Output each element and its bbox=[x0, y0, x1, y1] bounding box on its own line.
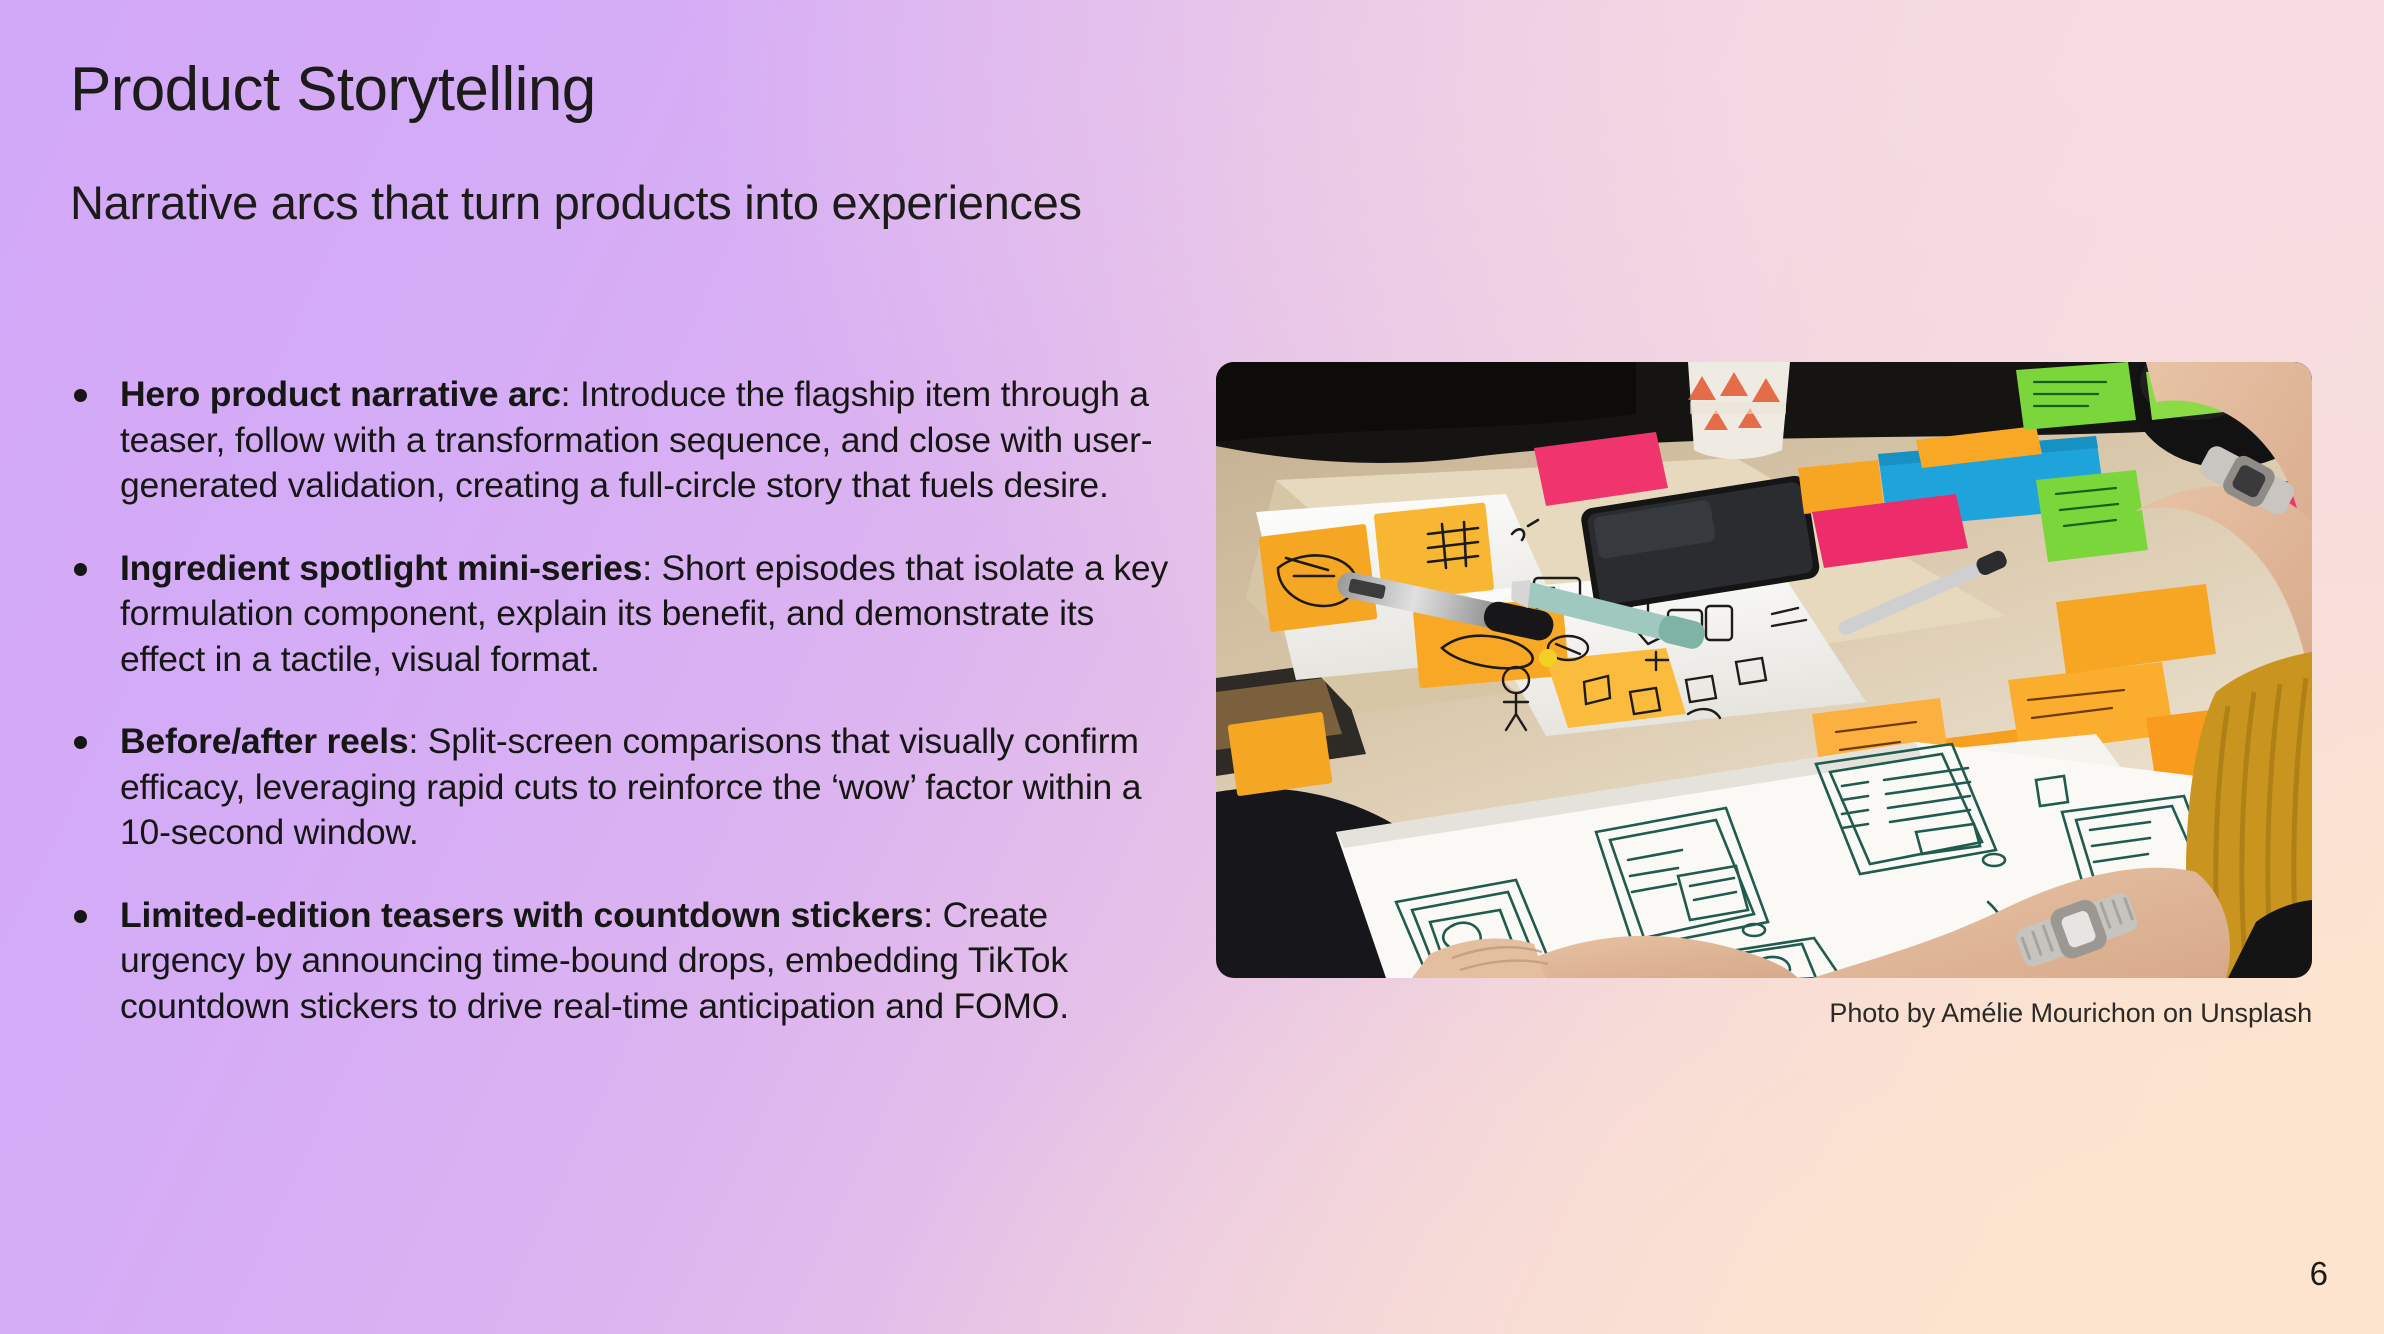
page-number: 6 bbox=[2310, 1257, 2328, 1290]
page-title: Product Storytelling bbox=[70, 56, 596, 124]
bullet-dot-icon bbox=[74, 389, 87, 402]
bullet-dot-icon bbox=[74, 910, 87, 923]
bullet-dot-icon bbox=[74, 736, 87, 749]
list-item: Before/after reels: Split-screen compari… bbox=[62, 719, 1182, 856]
bullet-dot-icon bbox=[74, 563, 87, 576]
list-item-lead: Ingredient spotlight mini-series bbox=[120, 548, 642, 588]
workshop-table-photo bbox=[1216, 362, 2312, 978]
page-subtitle: Narrative arcs that turn products into e… bbox=[70, 176, 1082, 230]
list-item-lead: Hero product narrative arc bbox=[120, 374, 561, 414]
list-item: Ingredient spotlight mini-series: Short … bbox=[62, 546, 1182, 683]
list-item: Limited-edition teasers with countdown s… bbox=[62, 893, 1182, 1030]
list-item-lead: Before/after reels bbox=[120, 721, 408, 761]
photo-figure: Photo by Amélie Mourichon on Unsplash bbox=[1216, 362, 2312, 978]
bullet-list: Hero product narrative arc: Introduce th… bbox=[62, 372, 1182, 1029]
photo-credit-caption: Photo by Amélie Mourichon on Unsplash bbox=[1829, 998, 2312, 1029]
list-item: Hero product narrative arc: Introduce th… bbox=[62, 372, 1182, 509]
list-item-lead: Limited-edition teasers with countdown s… bbox=[120, 895, 923, 935]
slide: Product Storytelling Narrative arcs that… bbox=[0, 0, 2384, 1334]
